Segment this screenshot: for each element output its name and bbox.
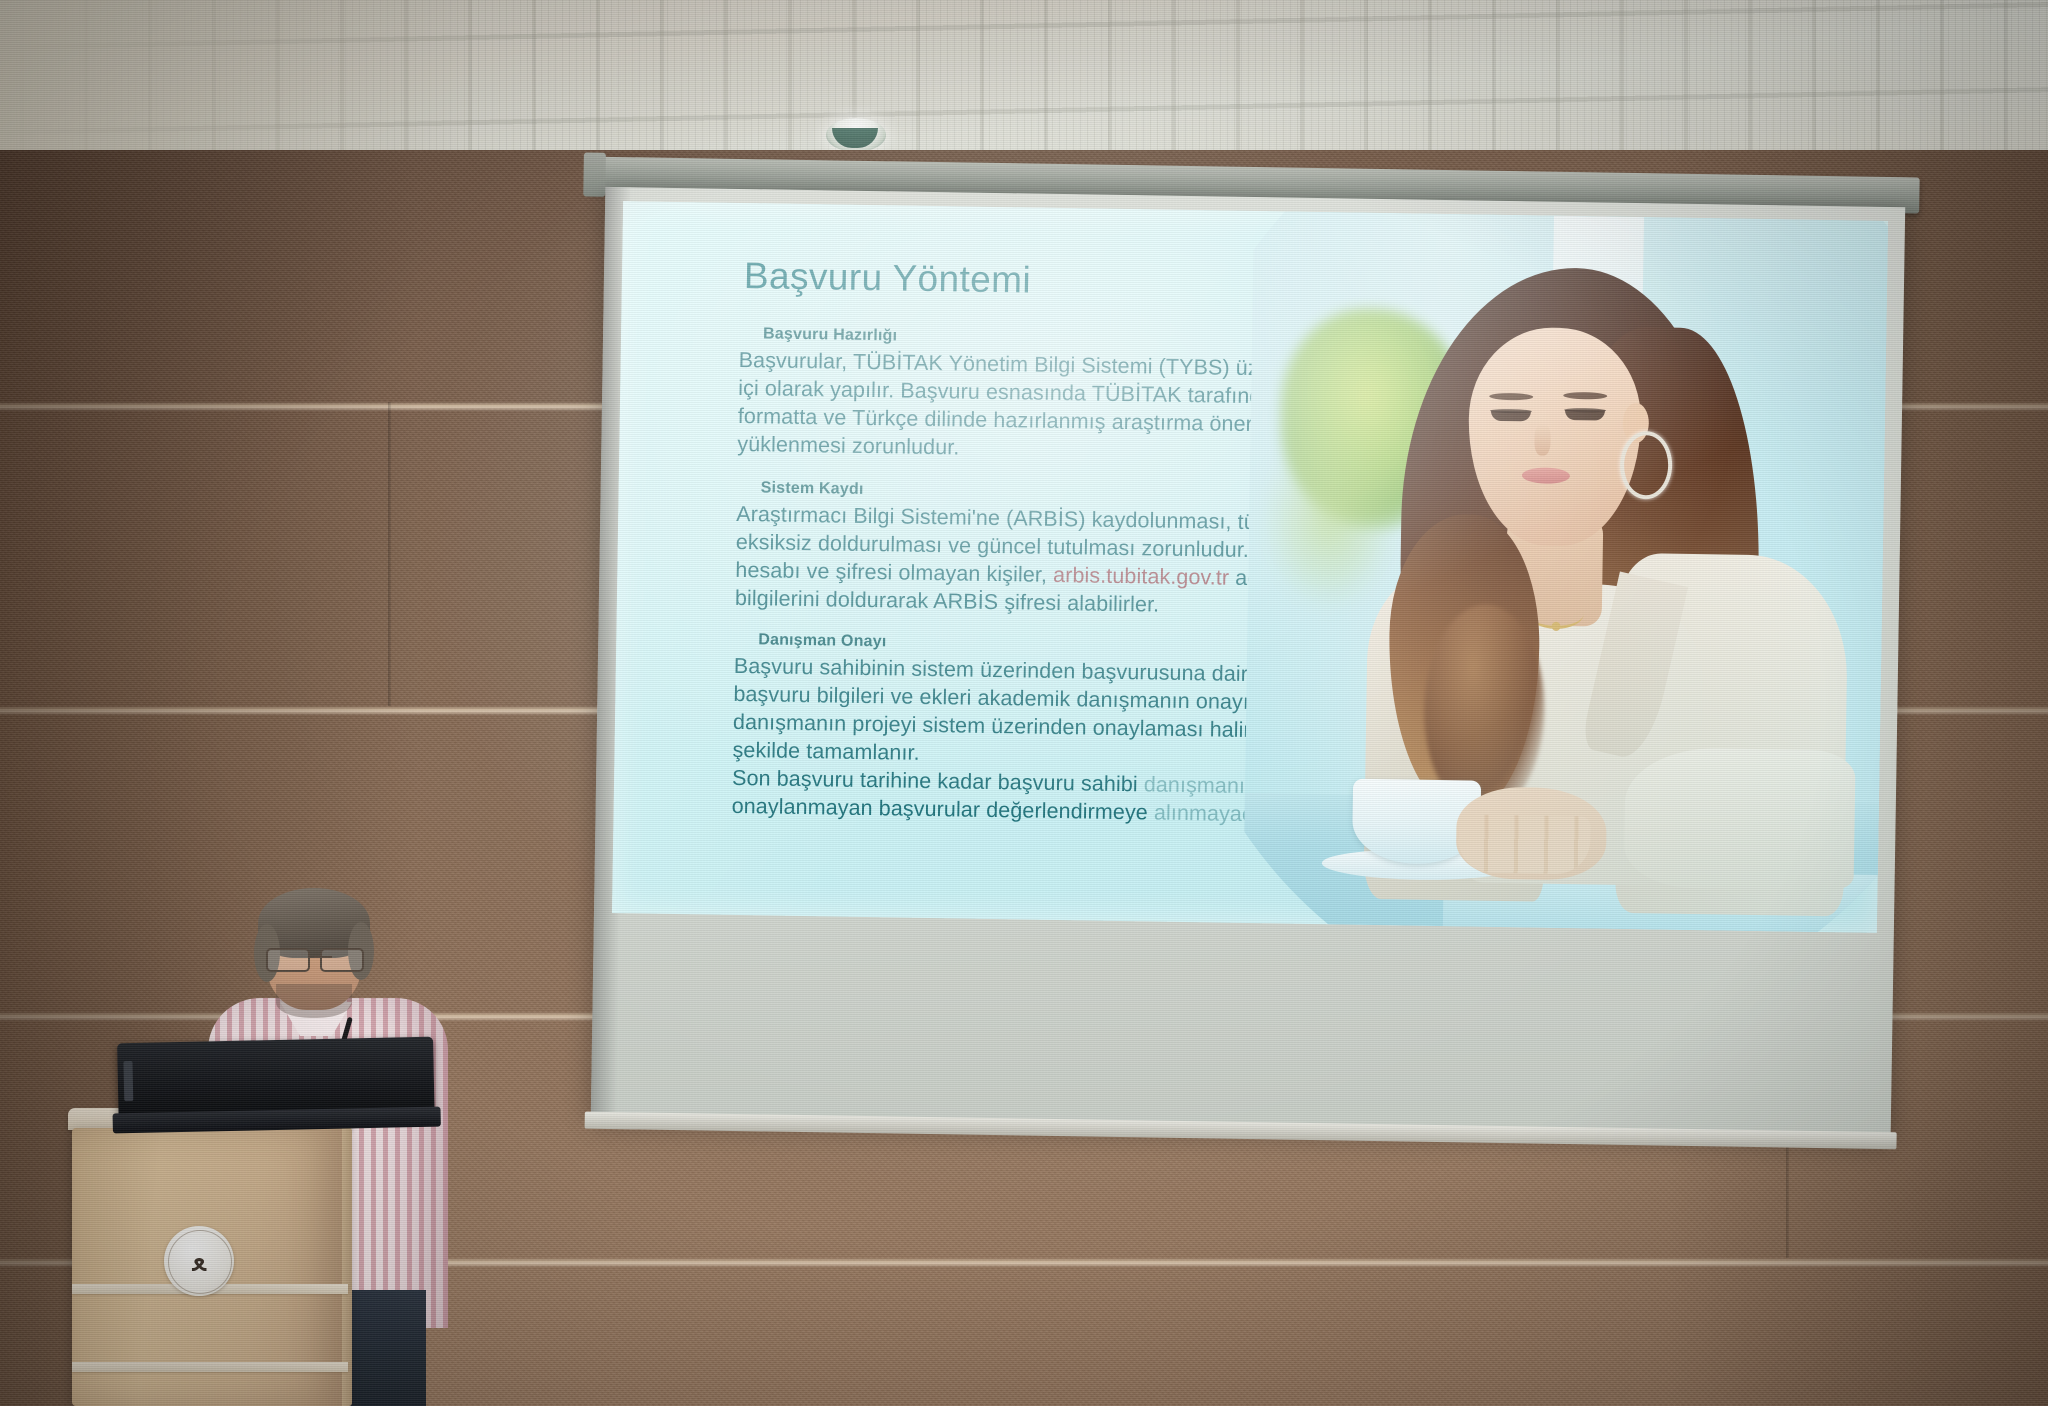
section-body-line6-text: onaylanmayan başvurular değerlendirmeye bbox=[731, 794, 1148, 825]
glasses-icon bbox=[266, 948, 364, 968]
presenter-beard bbox=[276, 984, 352, 1018]
glasses-bridge bbox=[314, 956, 332, 958]
laptop-port bbox=[123, 1061, 133, 1101]
woman-with-coffee-photo bbox=[1243, 211, 1888, 933]
podium: ﻌ bbox=[72, 1108, 348, 1406]
laptop-lid bbox=[117, 1037, 434, 1118]
presentation-slide: Başvuru Yöntemi Başvuru Hazırlığı Başvur… bbox=[612, 201, 1888, 933]
section-body-line5-text: Son başvuru tarihine kadar başvuru sahib… bbox=[732, 766, 1138, 796]
screen-roller-cap bbox=[583, 153, 606, 197]
photo-sheen bbox=[1243, 211, 1888, 933]
lecture-hall-photo: Başvuru Yöntemi Başvuru Hazırlığı Başvur… bbox=[0, 0, 2048, 1406]
slide-title: Başvuru Yöntemi bbox=[744, 255, 1032, 302]
projection-screen: Başvuru Yöntemi Başvuru Hazırlığı Başvur… bbox=[591, 187, 1905, 1137]
podium-groove bbox=[72, 1362, 348, 1372]
university-emblem-ring bbox=[168, 1230, 232, 1294]
arbis-url-link[interactable]: arbis.tubitak.gov.tr bbox=[1053, 563, 1229, 590]
laptop[interactable] bbox=[117, 1037, 435, 1136]
screen-fabric: Başvuru Yöntemi Başvuru Hazırlığı Başvur… bbox=[591, 187, 1905, 1137]
